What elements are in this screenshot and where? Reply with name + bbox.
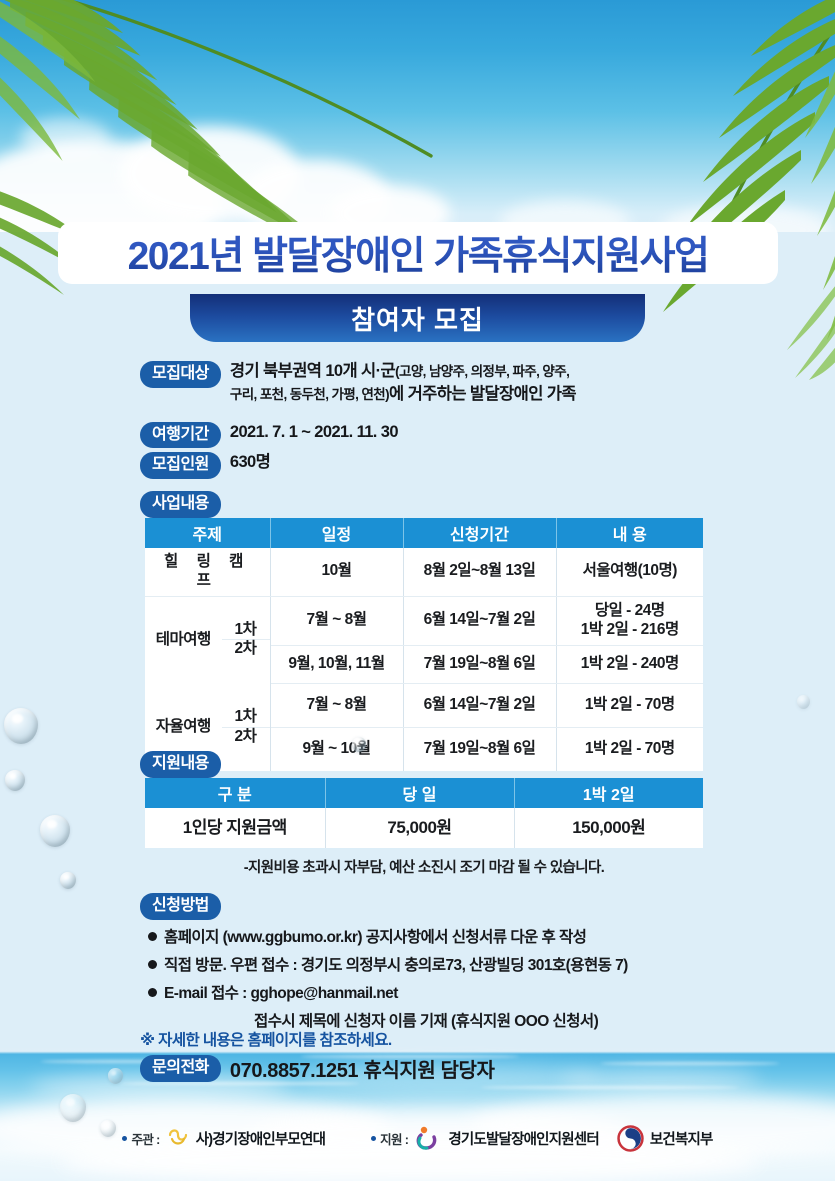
cell-subject: 힐 링 캠 프: [145, 548, 270, 596]
bullet-icon: [148, 960, 157, 969]
host-label-text: 주관 :: [131, 1129, 159, 1148]
poster-root: 2021년 발달장애인 가족휴식지원사업 참여자 모집 모집대상 경기 북부권역…: [0, 0, 835, 1181]
cell-detail: 서울여행(10명): [556, 548, 703, 596]
table-header-row: 주제 일정 신청기간 내 용: [145, 518, 703, 548]
sponsor-org-name: 경기도발달장애인지원센터: [448, 1128, 598, 1149]
label-apply-method: 신청방법: [140, 893, 221, 920]
label-contact-phone: 문의전화: [140, 1055, 221, 1082]
label-support-content: 지원내용: [140, 751, 221, 778]
host-label: 주관 :: [122, 1129, 159, 1148]
business-table: 주제 일정 신청기간 내 용 힐 링 캠 프 10월 8월 2일~8월 13일 …: [145, 518, 703, 771]
water-droplet: [40, 815, 70, 847]
dot-icon: [371, 1136, 376, 1141]
section-head-apply: 신청방법: [140, 893, 221, 920]
detail-line2: 1박 2일 - 216명: [581, 621, 679, 638]
apply-list: 홈페이지 (www.ggbumo.or.kr) 공지사항에서 신청서류 다운 후…: [148, 925, 788, 1037]
label-travel-period: 여행기간: [140, 422, 221, 449]
subtitle-band: 참여자 모집: [190, 294, 645, 342]
cell-detail: 1박 2일 - 70명: [556, 727, 703, 771]
bullet-icon: [148, 932, 157, 941]
col-day-trip: 당 일: [325, 778, 514, 808]
footer-sponsor: 지원 : 경기도발달장애인지원센터: [371, 1124, 599, 1152]
cell-period: 7월 19일~8월 6일: [403, 645, 556, 683]
label-target: 모집대상: [140, 361, 221, 388]
cell-period: 7월 19일~8월 6일: [403, 727, 556, 771]
water-droplet: [5, 770, 25, 791]
cell-subject: 자율여행: [145, 708, 222, 747]
table-row: 1인당 지원금액 75,000원 150,000원: [145, 808, 703, 848]
travel-period-value: 2021. 7. 1 ~ 2021. 11. 30: [230, 421, 398, 444]
table-row: 테마여행 1차 2차 7월 ~ 8월 6월 14일~7월 2일 당일 - 24명…: [145, 596, 703, 645]
sponsor-logo-icon: [414, 1124, 442, 1152]
host-logo-icon: [166, 1126, 190, 1150]
contact-value: 070.8857.1251 휴식지원 담당자: [230, 1054, 495, 1083]
cell-period: 6월 14일~7월 2일: [403, 596, 556, 645]
target-line2-small: 구리, 포천, 동두천, 가평, 연천): [230, 387, 389, 402]
poster-subtitle: 참여자 모집: [351, 300, 484, 337]
apply-item-text: 홈페이지 (www.ggbumo.or.kr) 공지사항에서 신청서류 다운 후…: [164, 925, 586, 947]
cell-round: 1차: [222, 708, 270, 728]
detail-line1: 당일 - 24명: [595, 602, 665, 619]
cell-detail: 1박 2일 - 70명: [556, 683, 703, 727]
target-line2-main: 에 거주하는 발달장애인 가족: [389, 385, 576, 403]
list-item: 직접 방문. 우편 접수 : 경기도 의정부시 충의로73, 산광빌딩 301호…: [148, 953, 788, 975]
headcount-value: 630명: [230, 451, 270, 474]
col-subject: 주제: [145, 518, 270, 548]
info-row-travel-period: 여행기간 2021. 7. 1 ~ 2021. 11. 30: [140, 421, 740, 449]
dot-icon: [122, 1136, 127, 1141]
target-line1-main: 경기 북부권역 10개 시·군: [230, 362, 395, 380]
support-table: 구 분 당 일 1박 2일 1인당 지원금액 75,000원 150,000원: [145, 778, 703, 848]
col-overnight: 1박 2일: [514, 778, 703, 808]
section-head-support: 지원내용: [140, 751, 221, 778]
list-item: 홈페이지 (www.ggbumo.or.kr) 공지사항에서 신청서류 다운 후…: [148, 925, 788, 947]
cell-schedule: 7월 ~ 8월: [270, 596, 403, 645]
cell-round: 2차: [222, 640, 270, 659]
cell-detail: 1박 2일 - 240명: [556, 645, 703, 683]
col-schedule: 일정: [270, 518, 403, 548]
sponsor-label: 지원 :: [371, 1129, 408, 1148]
target-line1-small: (고양, 남양주, 의정부, 파주, 양주,: [395, 364, 569, 379]
footer: 주관 : 사)경기장애인부모연대 지원 : 경기도발달장애인지원센터: [0, 1124, 835, 1152]
target-value: 경기 북부권역 10개 시·군(고양, 남양주, 의정부, 파주, 양주,구리,…: [230, 360, 576, 407]
cell-day-trip: 75,000원: [325, 808, 514, 848]
list-item: E-mail 접수 : gghope@hanmail.net: [148, 981, 788, 1003]
contact-block: 문의전화 070.8857.1251 휴식지원 담당자: [140, 1054, 494, 1083]
ripple: [600, 1062, 780, 1065]
cell-schedule: 7월 ~ 8월: [270, 683, 403, 727]
table-row: 자율여행 1차 2차 7월 ~ 8월 6월 14일~7월 2일 1박 2일 - …: [145, 683, 703, 727]
bullet-icon: [148, 988, 157, 997]
cell-schedule: 10월: [270, 548, 403, 596]
water-droplet: [4, 708, 38, 744]
apply-item-text: 직접 방문. 우편 접수 : 경기도 의정부시 충의로73, 산광빌딩 301호…: [164, 953, 628, 975]
section-head-business: 사업내용: [140, 491, 221, 518]
table-row: 힐 링 캠 프 10월 8월 2일~8월 13일 서울여행(10명): [145, 548, 703, 596]
cell-period: 6월 14일~7월 2일: [403, 683, 556, 727]
support-note: -지원비용 초과시 자부담, 예산 소진시 조기 마감 될 수 있습니다.: [145, 856, 703, 877]
sponsor-label-text: 지원 :: [380, 1129, 408, 1148]
cell-round: 2차: [222, 728, 270, 747]
col-period: 신청기간: [403, 518, 556, 548]
poster-title: 2021년 발달장애인 가족휴식지원사업: [128, 225, 709, 281]
cell-overnight: 150,000원: [514, 808, 703, 848]
cell-subject-group: 테마여행 1차 2차: [145, 596, 270, 683]
info-row-headcount: 모집인원 630명: [140, 451, 740, 479]
footer-ministry: 보건복지부: [617, 1125, 713, 1152]
government-taegeuk-icon: [617, 1125, 644, 1152]
water-droplet: [60, 872, 76, 889]
col-detail: 내 용: [556, 518, 703, 548]
cell-period: 8월 2일~8월 13일: [403, 548, 556, 596]
footer-host: 주관 : 사)경기장애인부모연대: [122, 1126, 325, 1150]
info-block: 모집대상 경기 북부권역 10개 시·군(고양, 남양주, 의정부, 파주, 양…: [140, 360, 740, 482]
col-category: 구 분: [145, 778, 325, 808]
host-org-name: 사)경기장애인부모연대: [196, 1128, 325, 1149]
title-band: 2021년 발달장애인 가족휴식지원사업: [58, 222, 778, 284]
cell-schedule: 9월 ~ 10월: [270, 727, 403, 771]
cell-subject: 테마여행: [145, 621, 222, 660]
info-row-target: 모집대상 경기 북부권역 10개 시·군(고양, 남양주, 의정부, 파주, 양…: [140, 360, 740, 407]
table-header-row: 구 분 당 일 1박 2일: [145, 778, 703, 808]
ministry-org-name: 보건복지부: [650, 1128, 713, 1149]
label-headcount: 모집인원: [140, 452, 221, 479]
cell-detail: 당일 - 24명 1박 2일 - 216명: [556, 596, 703, 645]
cell-schedule: 9월, 10월, 11월: [270, 645, 403, 683]
cell-category: 1인당 지원금액: [145, 808, 325, 848]
apply-item-text: E-mail 접수 : gghope@hanmail.net: [164, 981, 398, 1003]
ripple: [480, 1086, 740, 1089]
cell-round: 1차: [222, 621, 270, 641]
label-business-content: 사업내용: [140, 491, 221, 518]
water-droplet: [797, 695, 810, 709]
